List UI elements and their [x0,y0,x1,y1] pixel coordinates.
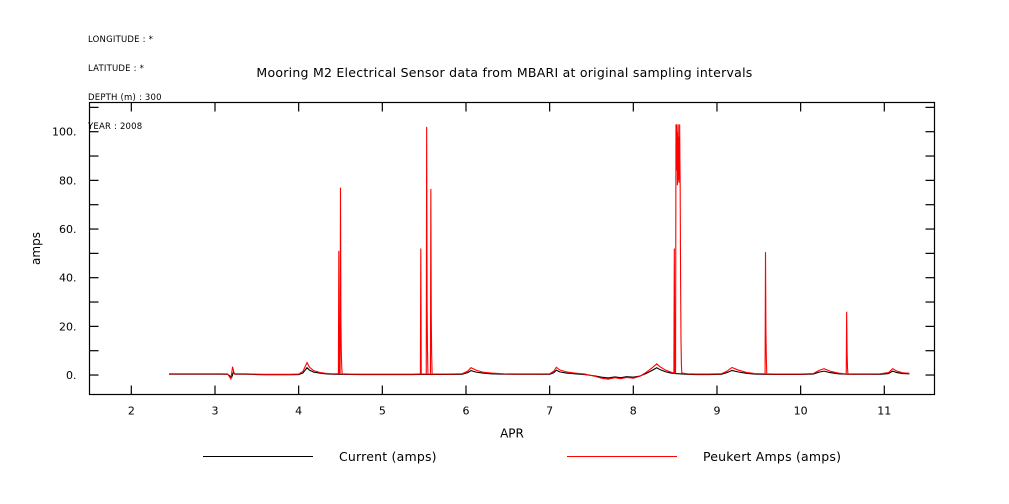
y-tick-label: 20. [59,320,77,333]
y-tick-label: 0. [66,369,77,382]
y-tick-label: 80. [59,174,77,187]
legend-swatch-current [203,456,313,457]
y-tick-label: 100. [52,126,77,139]
chart-page: LONGITUDE : * LATITUDE : * DEPTH (m) : 3… [0,0,1009,504]
x-tick-label: 6 [462,405,469,418]
x-tick-label: 7 [546,405,553,418]
series-line [169,368,909,378]
x-tick-label: 5 [379,405,386,418]
legend-label-peukert: Peukert Amps (amps) [703,449,841,464]
legend-label-current: Current (amps) [339,449,437,464]
series-layer [169,124,909,379]
plot-svg: 0.20.40.60.80.100.234567891011APRamps [0,0,1009,504]
x-tick-label: 3 [211,405,218,418]
legend-entry-peukert: Peukert Amps (amps) [567,445,841,467]
legend-entry-current: Current (amps) [203,445,437,467]
chart-legend: Current (amps) Peukert Amps (amps) [0,445,1009,471]
x-tick-label: 8 [630,405,637,418]
x-tick-label: 11 [877,405,891,418]
series-line [169,124,909,379]
plot-frame [90,103,935,395]
x-tick-label: 4 [295,405,302,418]
legend-swatch-peukert [567,456,677,457]
y-tick-label: 60. [59,223,77,236]
axis-layer: 0.20.40.60.80.100.234567891011APRamps [29,103,935,441]
x-tick-label: 9 [713,405,720,418]
plot-area: 0.20.40.60.80.100.234567891011APRamps [0,0,1009,504]
y-axis-label: amps [29,232,43,265]
y-tick-label: 40. [59,272,77,285]
x-tick-label: 10 [794,405,808,418]
x-tick-label: 2 [128,405,135,418]
x-axis-label: APR [500,427,524,441]
